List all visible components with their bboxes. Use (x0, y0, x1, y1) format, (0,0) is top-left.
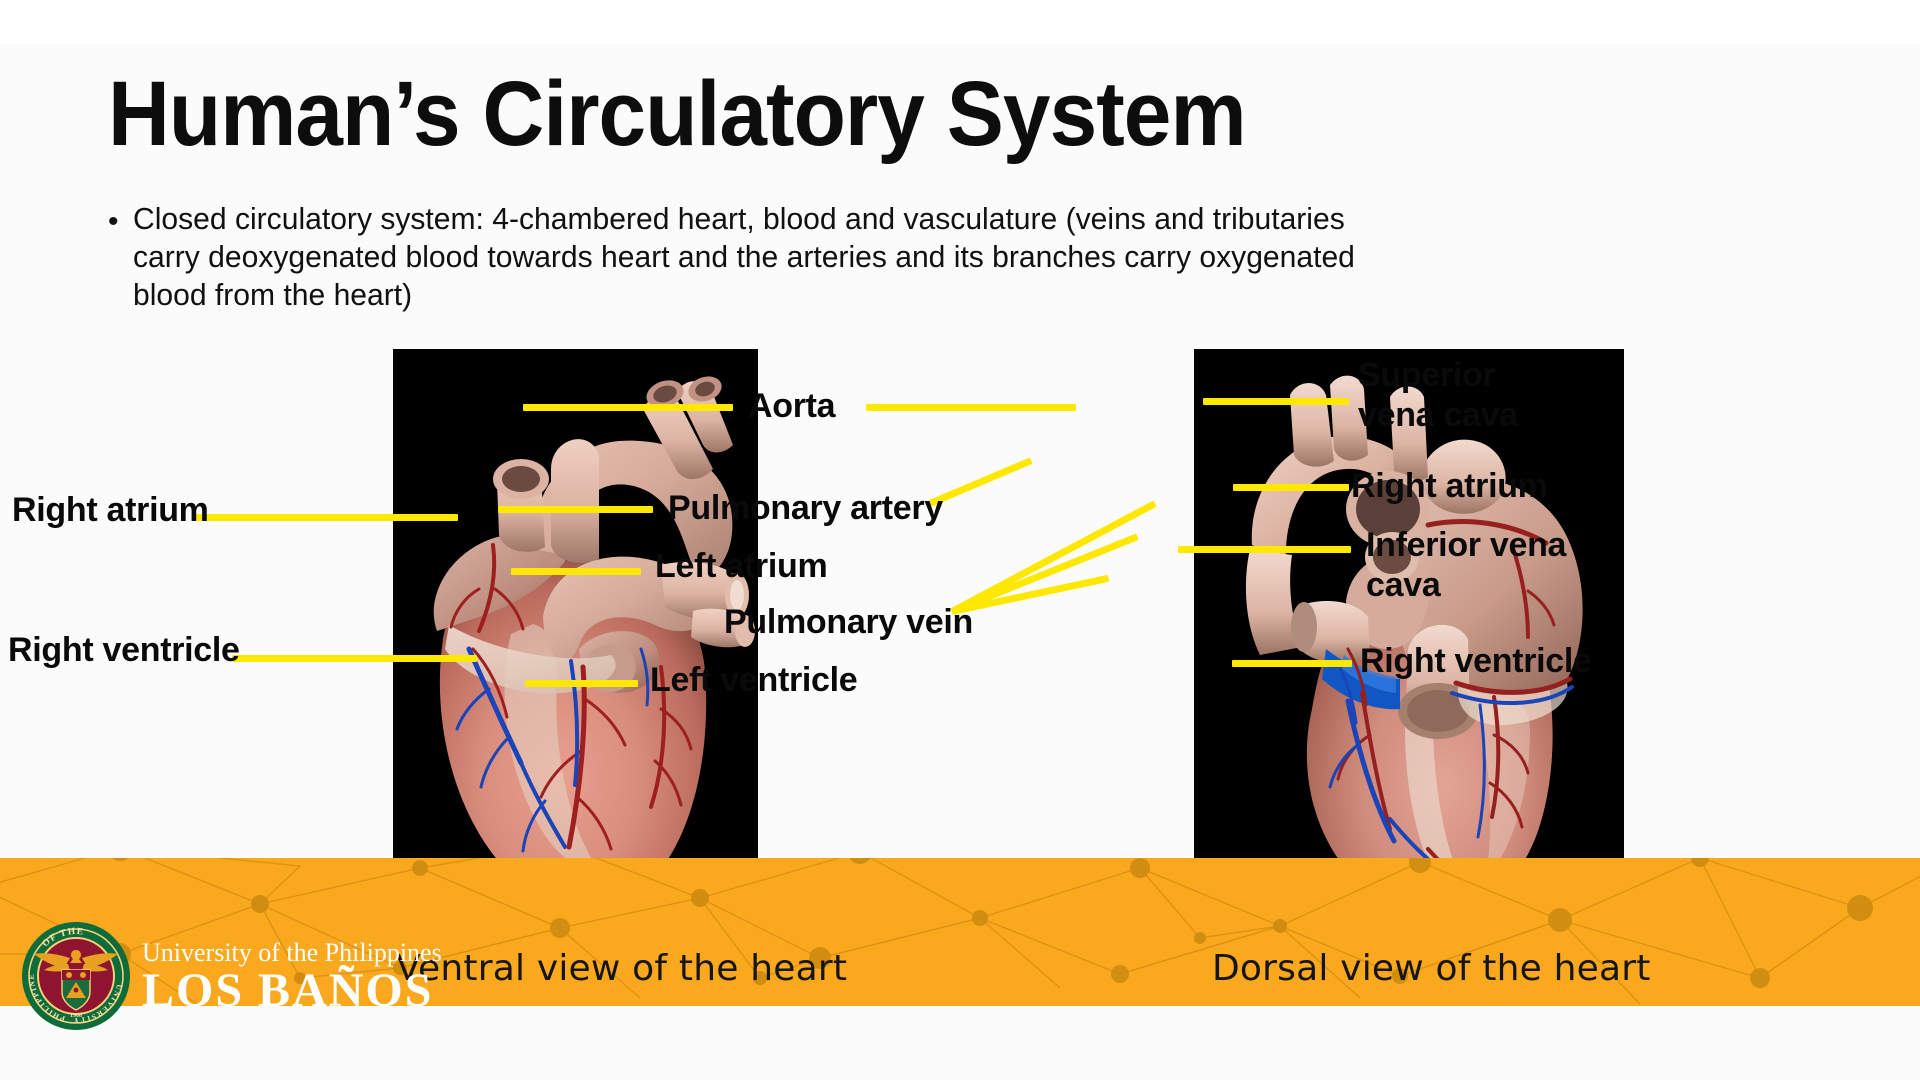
leader-aorta-ventral (523, 404, 733, 411)
leader-left-ventricle (525, 680, 638, 687)
label-right-ventricle: Right ventricle (8, 630, 240, 670)
leader-left-atrium (511, 568, 641, 575)
label-right-atrium-dorsal: Right atrium (1351, 466, 1548, 506)
bullet-line-1: Closed circulatory system: 4-chambered h… (133, 200, 1708, 238)
leader-right-ventricle-dorsal (1232, 660, 1352, 667)
caption-dorsal: Dorsal view of the heart (1212, 948, 1651, 989)
page-title: Human’s Circulatory System (108, 62, 1246, 167)
logo-text-block: University of the Philippines LOS BAÑOS (142, 936, 442, 1016)
dorsal-heart-image (1194, 349, 1624, 927)
up-seal-icon: OF THE UNIVERSITY PHILIPPINES (20, 920, 132, 1032)
label-left-atrium: Left atrium (655, 546, 827, 586)
label-right-ventricle-dorsal: Right ventricle (1360, 641, 1592, 681)
top-white-strip (0, 0, 1920, 44)
svg-text:1908: 1908 (70, 1013, 82, 1019)
bullet-marker: • (108, 200, 119, 242)
label-right-atrium: Right atrium (12, 490, 209, 530)
bullet-paragraph: • Closed circulatory system: 4-chambered… (108, 200, 1756, 314)
logo-university-name: University of the Philippines (142, 940, 442, 966)
label-inferior-vena-cava: Inferior vena cava (1366, 525, 1566, 605)
bullet-line-3: blood from the heart) (133, 276, 1708, 314)
leader-superior-vena-cava (1203, 398, 1349, 405)
leader-inferior-vena-cava (1178, 546, 1351, 553)
label-aorta: Aorta (748, 386, 835, 426)
bullet-line-2: carry deoxygenated blood towards heart a… (133, 238, 1708, 276)
leader-right-ventricle (232, 655, 477, 662)
logo-campus-name: LOS BAÑOS (142, 966, 442, 1016)
label-left-ventricle: Left ventricle (650, 660, 857, 700)
leader-aorta-dorsal (866, 404, 1076, 411)
ventral-heart-image (393, 349, 758, 927)
leader-pulmonary-artery-dorsal (929, 457, 1033, 506)
label-pulmonary-artery: Pulmonary artery (668, 488, 943, 528)
leader-pulmonary-artery-ventral (498, 506, 653, 513)
label-pulmonary-vein: Pulmonary vein (724, 602, 973, 642)
leader-right-atrium (196, 514, 458, 521)
slide-root: Human’s Circulatory System • Closed circ… (0, 0, 1920, 1080)
leader-right-atrium-dorsal (1233, 484, 1349, 491)
label-superior-vena-cava: Superior vena cava (1358, 355, 1518, 435)
caption-ventral: Ventral view of the heart (396, 948, 847, 989)
up-losbanos-logo: OF THE UNIVERSITY PHILIPPINES (20, 920, 442, 1032)
bullet-body: Closed circulatory system: 4-chambered h… (133, 200, 1708, 314)
